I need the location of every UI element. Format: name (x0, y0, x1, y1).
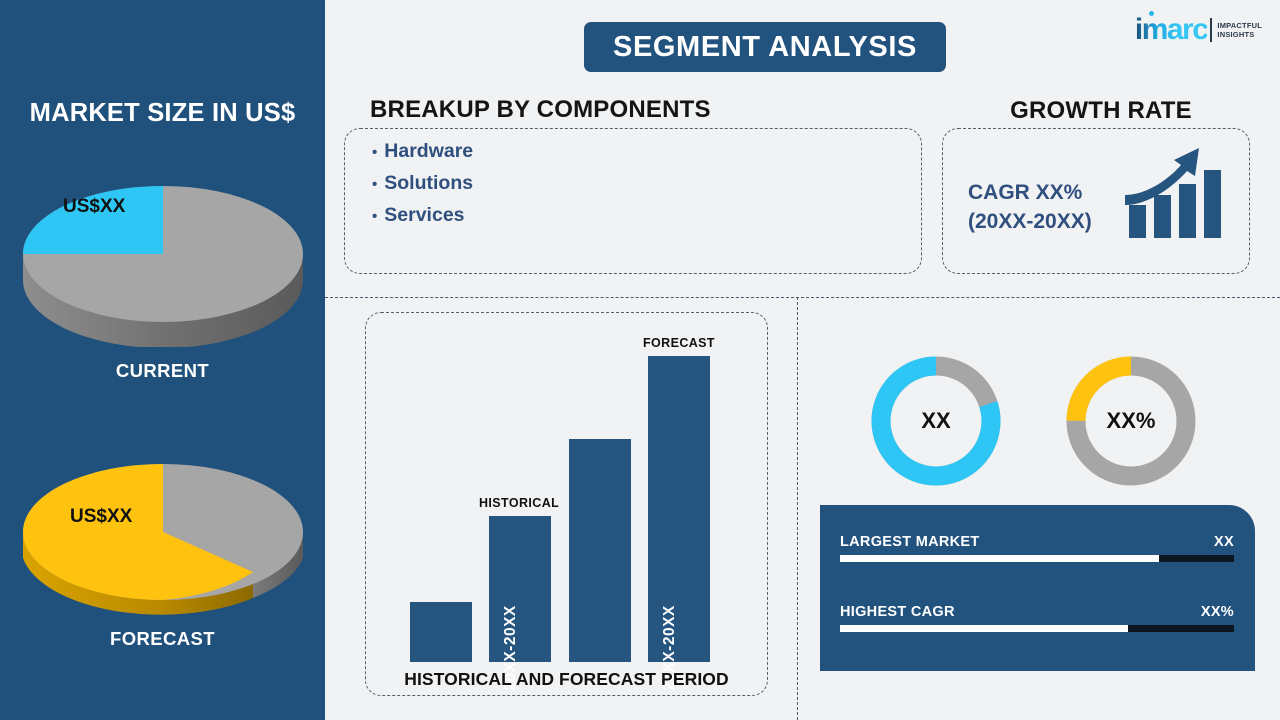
metric-row: LARGEST MARKET XX (840, 528, 1234, 550)
list-item-label: Services (384, 204, 464, 227)
pie-forecast-caption: FORECAST (0, 628, 325, 650)
header-banner: SEGMENT ANALYSIS (584, 22, 946, 72)
list-item-label: Hardware (384, 140, 473, 163)
growth-title: GROWTH RATE (941, 97, 1261, 125)
bullet-icon: • (372, 177, 377, 192)
donut-chart-2: XX% (1062, 352, 1200, 490)
breakup-list: • Hardware • Solutions • Services (372, 140, 792, 236)
logo-dot-icon (1149, 11, 1154, 16)
growth-arrow-bars-icon (1125, 143, 1229, 243)
imarc-logo: imarc IMPACTFUL INSIGHTS (1135, 13, 1262, 47)
bar-annotation-historical: HISTORICAL (479, 496, 559, 510)
divider-vertical (797, 297, 798, 720)
metric-progress-track (840, 625, 1234, 632)
list-item: • Hardware (372, 140, 792, 163)
metric-label: HIGHEST CAGR (840, 604, 955, 620)
bullet-icon: • (372, 209, 377, 224)
list-item: • Solutions (372, 172, 792, 195)
logo-tagline-line1: IMPACTFUL (1217, 21, 1262, 31)
metric-highest-cagr: HIGHEST CAGR XX% (840, 598, 1234, 632)
pie-current-caption: CURRENT (0, 360, 325, 382)
pie-current-svg (17, 162, 309, 347)
logo-divider (1210, 18, 1212, 42)
pie-chart-current (17, 162, 309, 347)
bar-chart-axis-title: HISTORICAL AND FORECAST PERIOD (365, 669, 768, 690)
metric-progress-fill (840, 625, 1128, 632)
bar-2 (569, 439, 631, 662)
metric-value: XX (1214, 534, 1234, 550)
donut-1-label: XX (867, 408, 1005, 434)
pie-current-value-label: US$XX (63, 196, 125, 218)
growth-period-line: (20XX-20XX) (968, 207, 1092, 236)
breakup-title: BREAKUP BY COMPONENTS (370, 96, 711, 124)
metrics-panel: LARGEST MARKET XX HIGHEST CAGR XX% (820, 505, 1255, 671)
growth-rate-text: CAGR XX% (20XX-20XX) (968, 178, 1092, 236)
bar-1: 20XX-20XX (489, 516, 551, 662)
list-item-label: Solutions (384, 172, 473, 195)
donut-chart-1: XX (867, 352, 1005, 490)
list-item: • Services (372, 204, 792, 227)
pie-forecast-value-label: US$XX (70, 506, 132, 528)
sidebar: MARKET SIZE IN US$ US$XX CURRENT (0, 0, 325, 720)
pie-forecast-svg (17, 440, 309, 625)
metric-label: LARGEST MARKET (840, 534, 980, 550)
metric-largest-market: LARGEST MARKET XX (840, 528, 1234, 562)
metric-progress-track (840, 555, 1234, 562)
metric-progress-fill (840, 555, 1159, 562)
bar-chart: 20XX-20XX 20XX-20XX HISTORICAL FORECAST … (365, 312, 768, 696)
bar-3: 20XX-20XX (648, 356, 710, 662)
bar-0 (410, 602, 472, 662)
pie-chart-forecast (17, 440, 309, 625)
metric-value: XX% (1201, 604, 1234, 620)
divider-horizontal (325, 297, 1280, 298)
logo-wordmark: imarc (1135, 13, 1208, 46)
donut-2-label: XX% (1062, 408, 1200, 434)
bullet-icon: • (372, 145, 377, 160)
logo-tagline-line2: INSIGHTS (1217, 30, 1262, 40)
bar-annotation-forecast: FORECAST (643, 336, 715, 350)
page-title: SEGMENT ANALYSIS (613, 31, 917, 64)
metric-row: HIGHEST CAGR XX% (840, 598, 1234, 620)
growth-cagr-line: CAGR XX% (968, 178, 1092, 207)
logo-tagline: IMPACTFUL INSIGHTS (1217, 21, 1262, 40)
infographic-root: MARKET SIZE IN US$ US$XX CURRENT (0, 0, 1280, 720)
sidebar-title: MARKET SIZE IN US$ (0, 99, 325, 128)
